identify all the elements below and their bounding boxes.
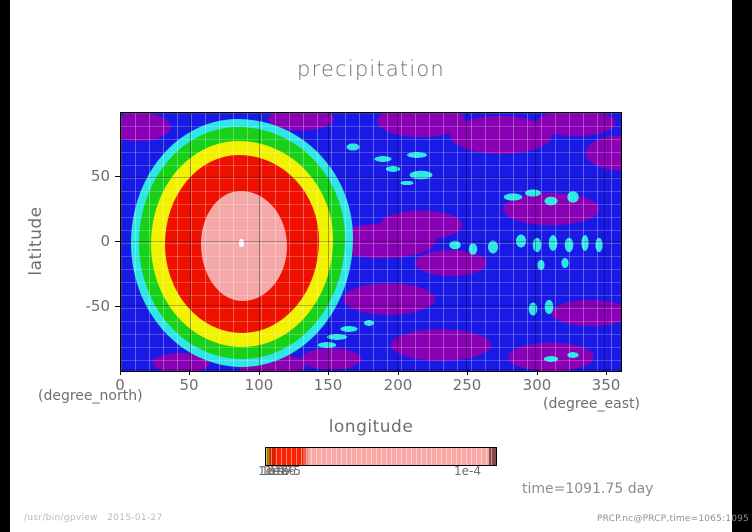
colorbar-label-1e-5: 1e-5 bbox=[274, 464, 301, 478]
page-title: precipitation bbox=[10, 57, 732, 81]
x-tickmark-0 bbox=[120, 370, 121, 375]
render-date: 2015-01-27 bbox=[107, 513, 162, 523]
plot-field bbox=[121, 113, 621, 371]
y-axis-unit: (degree_north) bbox=[38, 388, 143, 404]
figure-canvas: precipitation 0 50 bbox=[10, 0, 732, 532]
x-axis-label: longitude bbox=[10, 417, 732, 437]
x-tickmark-300 bbox=[537, 370, 538, 375]
x-tick-label-100: 100 bbox=[245, 376, 274, 394]
time-annotation: time=1091.75 day bbox=[522, 481, 653, 497]
x-tickmark-250 bbox=[467, 370, 468, 375]
y-tickmark-m50 bbox=[115, 306, 120, 307]
x-tickmark-100 bbox=[259, 370, 260, 375]
x-tick-label-300: 300 bbox=[523, 376, 552, 394]
y-tick-label-0: 0 bbox=[74, 232, 110, 250]
contour-core-peak bbox=[239, 239, 244, 247]
y-axis-label: latitude bbox=[26, 206, 46, 275]
program-path-stamp: /usr/bin/gpview 2015-01-27 bbox=[24, 513, 163, 523]
program-path: /usr/bin/gpview bbox=[24, 513, 98, 523]
y-tickmark-50 bbox=[115, 176, 120, 177]
x-tickmark-150 bbox=[328, 370, 329, 375]
contour-plot[interactable] bbox=[120, 112, 622, 372]
x-axis-unit: (degree_east) bbox=[543, 396, 640, 412]
colorbar-min-labels: 1e-9 1e-8 1e-7 1e-6 1e-5 bbox=[258, 464, 348, 480]
figure-root: precipitation 0 50 bbox=[0, 0, 752, 532]
contour-ring-pink-core bbox=[201, 191, 287, 301]
x-tickmark-50 bbox=[189, 370, 190, 375]
x-tick-label-250: 250 bbox=[453, 376, 482, 394]
x-tick-label-200: 200 bbox=[384, 376, 413, 394]
colorbar-ticks bbox=[266, 448, 496, 465]
x-tick-label-350: 350 bbox=[592, 376, 621, 394]
y-tickmark-0 bbox=[115, 241, 120, 242]
x-tickmark-350 bbox=[606, 370, 607, 375]
x-tick-label-50: 50 bbox=[179, 376, 198, 394]
x-tickmark-200 bbox=[398, 370, 399, 375]
colorbar-label-max: 1e-4 bbox=[454, 464, 481, 478]
source-dataset-stamp: PRCP.nc@PRCP,time=1065:1095 bbox=[597, 514, 749, 524]
y-tick-label-m50: -50 bbox=[66, 297, 110, 315]
x-tick-label-150: 150 bbox=[314, 376, 343, 394]
y-tick-label-50: 50 bbox=[74, 167, 110, 185]
